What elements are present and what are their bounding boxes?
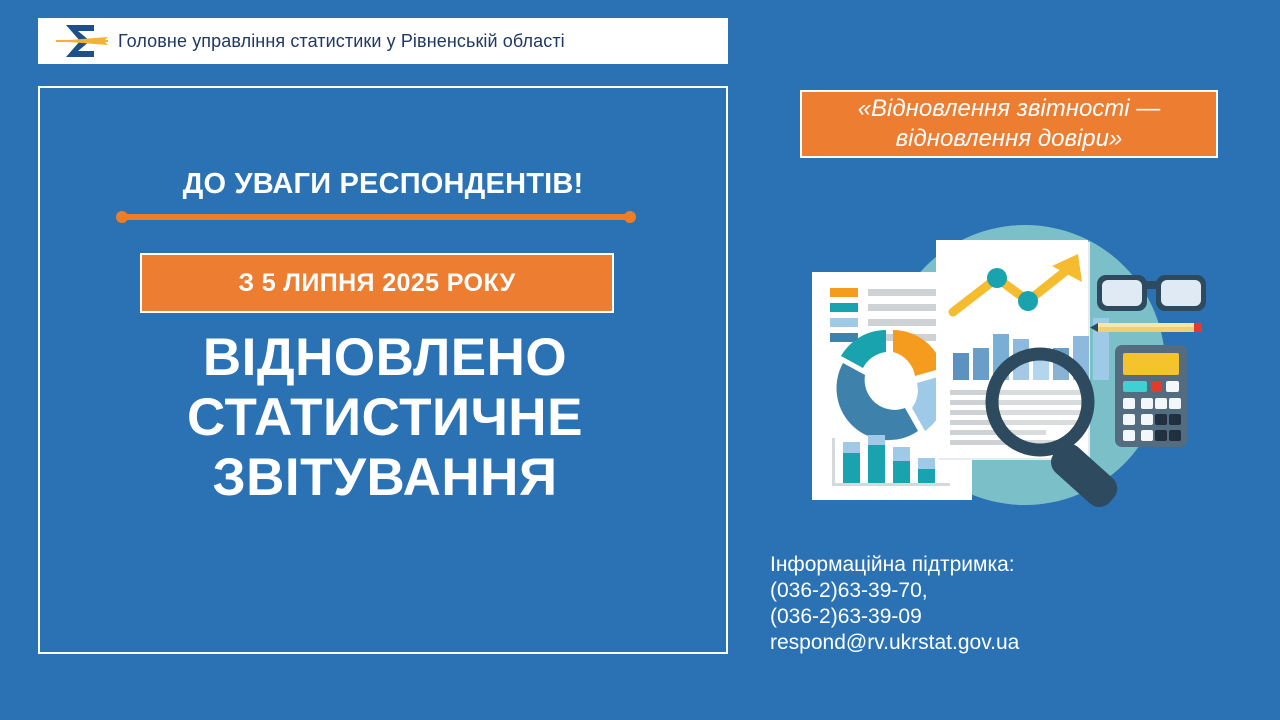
contact-email[interactable]: respond@rv.ukrstat.gov.ua [770, 630, 1190, 656]
data-point-1 [987, 268, 1007, 288]
attention-title: ДО УВАГИ РЕСПОНДЕНТІВ! [40, 168, 726, 201]
slogan-text: «Відновлення звітності — відновлення дов… [802, 94, 1216, 154]
statistics-sigma-logo-icon [52, 21, 114, 61]
orange-divider-line [122, 214, 630, 220]
main-announcement-panel: ДО УВАГИ РЕСПОНДЕНТІВ! З 5 ЛИПНЯ 2025 РО… [38, 86, 728, 654]
calculator-icon [1115, 345, 1187, 447]
header-bar: Головне управління статистики у Рівненсь… [38, 18, 728, 64]
contact-info-block: Інформаційна підтримка: (036-2)63-39-70,… [770, 552, 1190, 656]
data-point-2 [1018, 291, 1038, 311]
date-badge-label: З 5 ЛИПНЯ 2025 РОКУ [238, 269, 515, 298]
slide-canvas: Головне управління статистики у Рівненсь… [0, 0, 1280, 720]
headline-line-1: ВІДНОВЛЕНО [60, 328, 710, 388]
slogan-box: «Відновлення звітності — відновлення дов… [800, 90, 1218, 158]
contact-label: Інформаційна підтримка: [770, 552, 1190, 578]
date-badge: З 5 ЛИПНЯ 2025 РОКУ [140, 253, 614, 313]
divider-dot-left-icon [116, 211, 128, 223]
pencil-icon [1090, 323, 1202, 332]
divider-dot-right-icon [624, 211, 636, 223]
headline-line-3: ЗВІТУВАННЯ [60, 448, 710, 508]
contact-phone-2[interactable]: (036-2)63-39-09 [770, 604, 1190, 630]
contact-phone-1[interactable]: (036-2)63-39-70, [770, 578, 1190, 604]
headline-line-2: СТАТИСТИЧНЕ [60, 388, 710, 448]
org-title: Головне управління статистики у Рівненсь… [118, 31, 565, 52]
statistics-analytics-illustration [790, 190, 1210, 530]
page-title: ВІДНОВЛЕНО СТАТИСТИЧНЕ ЗВІТУВАННЯ [60, 328, 710, 508]
